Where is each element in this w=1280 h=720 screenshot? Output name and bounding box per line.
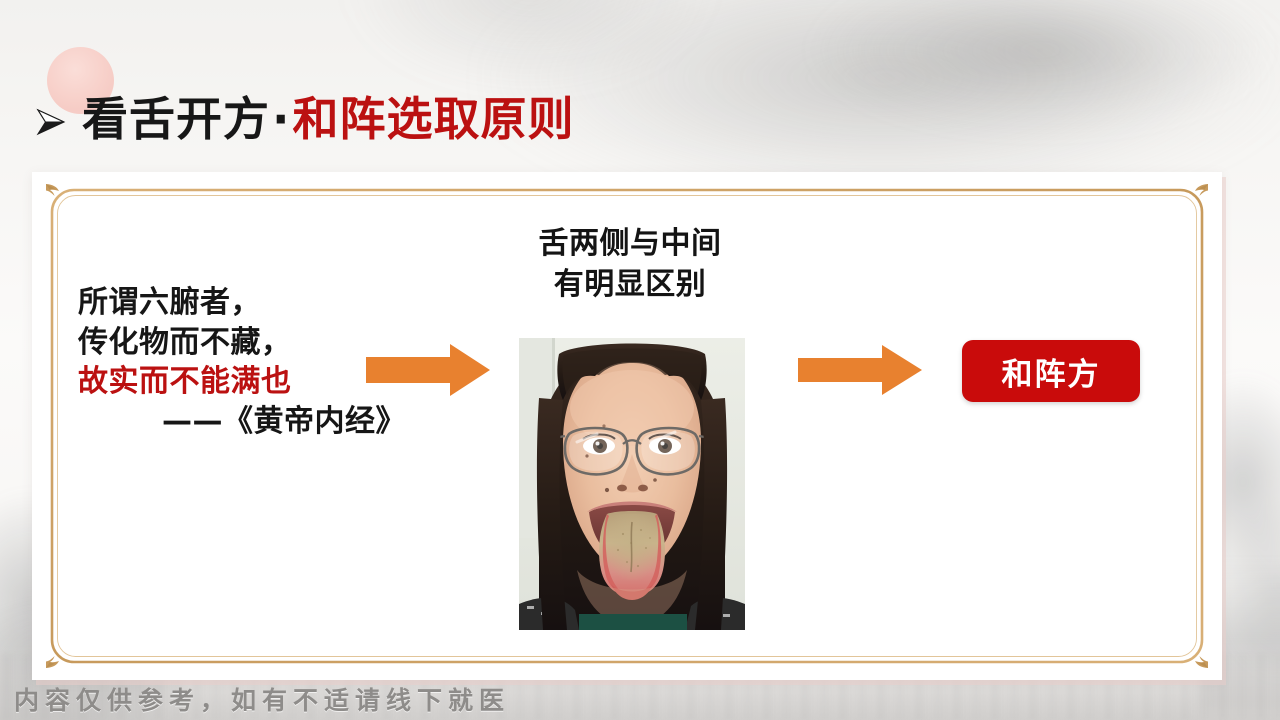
right-arrow-icon-2 — [798, 345, 922, 395]
quote-block: 所谓六腑者， 传化物而不藏， 故实而不能满也 ——《黄帝内经》 — [78, 283, 408, 441]
quote-line-3-highlight: 故实而不能满也 — [78, 362, 408, 402]
photo-caption-line-2: 有明显区别 — [470, 265, 790, 306]
corner-flourish-icon-bottom-right — [1180, 642, 1210, 670]
page-title: 看舌开方·和阵选取原则 — [34, 96, 574, 142]
result-badge-label: 和阵方 — [1002, 349, 1101, 394]
quote-line-1: 所谓六腑者， — [78, 283, 408, 323]
quote-line-2: 传化物而不藏， — [78, 323, 408, 363]
disclaimer-text: 内容仅供参考，如有不适请线下就医 — [14, 681, 510, 717]
tongue-diagnosis-photo — [519, 338, 745, 630]
corner-flourish-icon — [44, 182, 74, 210]
corner-flourish-icon-top-right — [1180, 182, 1210, 210]
slide-root: 看舌开方·和阵选取原则 — [0, 0, 1280, 720]
arrow-bullet-icon — [34, 105, 68, 139]
result-badge[interactable]: 和阵方 — [962, 340, 1140, 402]
photo-caption: 舌两侧与中间 有明显区别 — [470, 224, 790, 305]
title-separator: · — [270, 92, 292, 146]
title-red-part: 和阵选取原则 — [292, 92, 574, 146]
background-cloud-texture-2 — [760, 0, 1280, 160]
corner-flourish-icon-bottom-left — [44, 642, 74, 670]
quote-source: ——《黄帝内经》 — [78, 402, 408, 442]
title-black-part: 看舌开方 — [82, 92, 270, 146]
background-cloud-texture-3 — [300, 0, 760, 90]
right-arrow-icon — [366, 344, 490, 396]
photo-caption-line-1: 舌两侧与中间 — [470, 224, 790, 265]
